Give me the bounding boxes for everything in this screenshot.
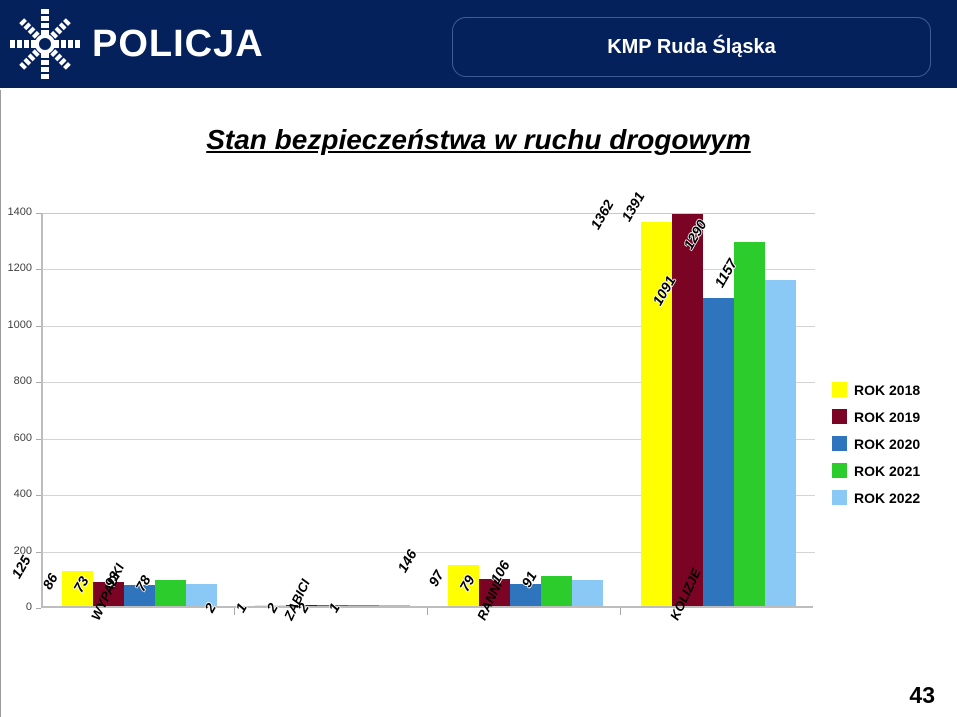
chart-legend: ROK 2018ROK 2019ROK 2020ROK 2021ROK 2022	[832, 376, 952, 511]
y-axis-tick-label: 800	[0, 375, 32, 387]
legend-item[interactable]: ROK 2020	[832, 430, 952, 457]
header-divider	[0, 88, 957, 90]
bar	[572, 580, 603, 606]
legend-color-swatch	[832, 490, 847, 505]
bar-group	[62, 211, 217, 606]
legend-label: ROK 2021	[854, 463, 920, 479]
legend-item[interactable]: ROK 2021	[832, 457, 952, 484]
chart-plot-area	[41, 213, 813, 608]
slide-header: POLICJA KMP Ruda Śląska	[0, 0, 957, 88]
legend-item[interactable]: ROK 2018	[832, 376, 952, 403]
x-axis-tick-mark	[427, 608, 428, 615]
y-axis-tick-label: 1200	[0, 262, 32, 274]
bar	[348, 605, 379, 607]
y-axis-tick-mark	[36, 608, 41, 609]
unit-name-box: KMP Ruda Śląska	[452, 17, 931, 77]
legend-color-swatch	[832, 382, 847, 397]
bar-group	[448, 211, 603, 606]
legend-label: ROK 2020	[854, 436, 920, 452]
bar-group	[255, 211, 410, 606]
bar	[379, 605, 410, 607]
y-axis-tick-label: 600	[0, 432, 32, 444]
bar-value-label: 125	[8, 552, 34, 580]
slide-left-rule	[0, 90, 1, 717]
legend-item[interactable]: ROK 2022	[832, 484, 952, 511]
policja-wordmark: POLICJA	[92, 25, 264, 63]
legend-item[interactable]: ROK 2019	[832, 403, 952, 430]
bar	[672, 214, 703, 606]
legend-label: ROK 2019	[854, 409, 920, 425]
unit-name-label: KMP Ruda Śląska	[607, 36, 776, 59]
bar	[734, 242, 765, 606]
bar	[155, 580, 186, 606]
bar	[703, 298, 734, 606]
legend-label: ROK 2022	[854, 490, 920, 506]
police-star-icon	[8, 7, 82, 81]
chart-title: Stan bezpieczeństwa w ruchu drogowym	[0, 124, 957, 156]
policja-logo: POLICJA	[8, 6, 248, 82]
bar	[186, 584, 217, 606]
y-axis-tick-label: 0	[0, 601, 32, 613]
legend-color-swatch	[832, 436, 847, 451]
y-axis-tick-label: 200	[0, 545, 32, 557]
x-axis-tick-mark	[620, 608, 621, 615]
bar	[510, 584, 541, 606]
y-axis-tick-label: 1000	[0, 319, 32, 331]
bar	[765, 280, 796, 606]
page-number: 43	[909, 682, 935, 709]
legend-color-swatch	[832, 409, 847, 424]
bar	[541, 576, 572, 606]
legend-label: ROK 2018	[854, 382, 920, 398]
legend-color-swatch	[832, 463, 847, 478]
y-axis-tick-label: 400	[0, 488, 32, 500]
y-axis-tick-label: 1400	[0, 206, 32, 218]
